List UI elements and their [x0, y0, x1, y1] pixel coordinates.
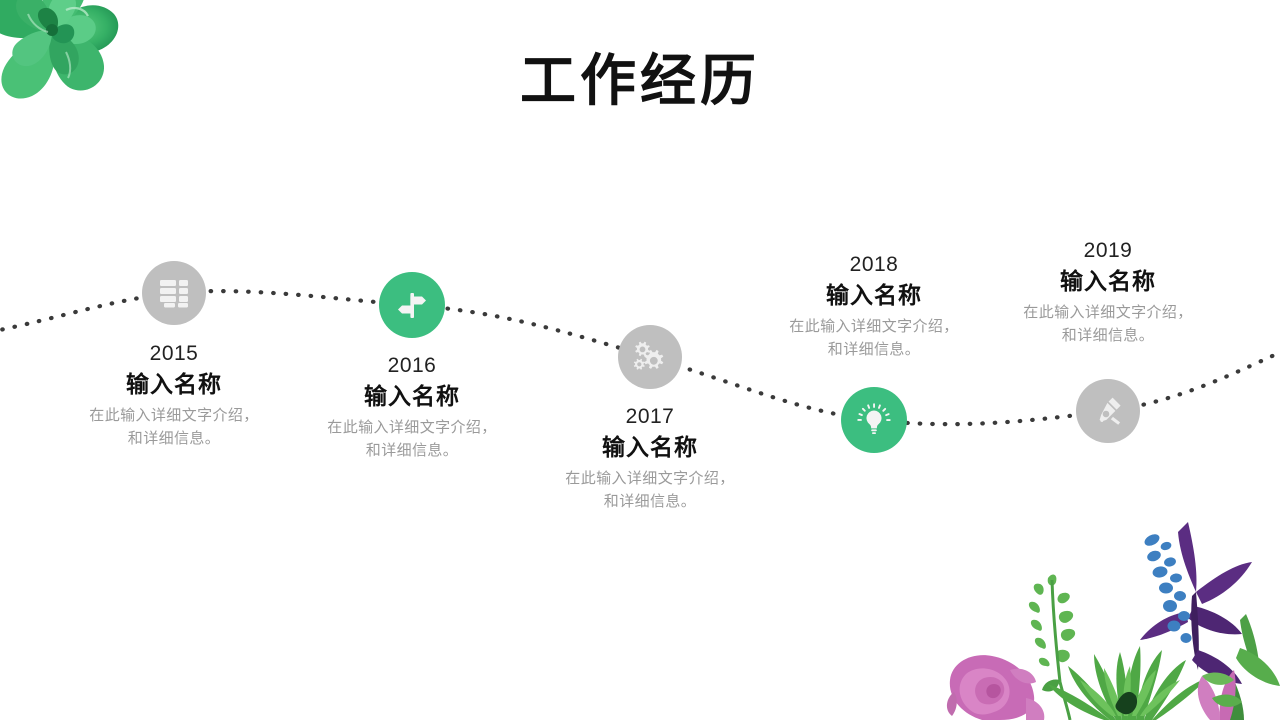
- timeline-node-text-2018: 2018 输入名称 在此输入详细文字介绍， 和详细信息。: [754, 252, 994, 362]
- timeline-node-circle-2016[interactable]: [379, 272, 445, 338]
- timeline-desc-2016-line2: 和详细信息。: [292, 439, 532, 462]
- timeline-desc-2015-line1: 在此输入详细文字介绍，: [54, 404, 294, 427]
- gears-icon: [632, 339, 668, 375]
- timeline-desc-2016-line1: 在此输入详细文字介绍，: [292, 416, 532, 439]
- timeline-name-2015: 输入名称: [54, 370, 294, 400]
- timeline-year-2015: 2015: [54, 341, 294, 367]
- timeline-node-text-2016: 2016 输入名称 在此输入详细文字介绍， 和详细信息。: [292, 353, 532, 463]
- timeline-name-2016: 输入名称: [292, 382, 532, 412]
- lightbulb-icon: [856, 402, 892, 438]
- timeline-desc-2017-line2: 和详细信息。: [530, 490, 770, 513]
- timeline-node-circle-2019[interactable]: [1076, 379, 1140, 443]
- timeline-desc-2015-line2: 和详细信息。: [54, 427, 294, 450]
- timeline-node-circle-2018[interactable]: [841, 387, 907, 453]
- timeline-name-2017: 输入名称: [530, 433, 770, 463]
- timeline-node-text-2019: 2019 输入名称 在此输入详细文字介绍， 和详细信息。: [988, 238, 1228, 348]
- timeline-node-text-2017: 2017 输入名称 在此输入详细文字介绍， 和详细信息。: [530, 404, 770, 514]
- server-icon: [157, 276, 191, 310]
- timeline-node-circle-2017[interactable]: [618, 325, 682, 389]
- signpost-icon: [394, 287, 430, 323]
- timeline-desc-2017-line1: 在此输入详细文字介绍，: [530, 467, 770, 490]
- slide-canvas: 工作经历 2015 输入名称 在此输入详细文字介绍， 和详细信息。: [0, 0, 1280, 720]
- timeline-year-2016: 2016: [292, 353, 532, 379]
- timeline-desc-2018-line1: 在此输入详细文字介绍，: [754, 315, 994, 338]
- pen-nib-icon: [1090, 393, 1126, 429]
- timeline-node-circle-2015[interactable]: [142, 261, 206, 325]
- timeline-node-text-2015: 2015 输入名称 在此输入详细文字介绍， 和详细信息。: [54, 341, 294, 451]
- timeline-year-2018: 2018: [754, 252, 994, 278]
- timeline-desc-2019-line1: 在此输入详细文字介绍，: [988, 301, 1228, 324]
- timeline-desc-2018-line2: 和详细信息。: [754, 338, 994, 361]
- timeline-name-2018: 输入名称: [754, 281, 994, 311]
- timeline-name-2019: 输入名称: [988, 267, 1228, 297]
- timeline-year-2019: 2019: [988, 238, 1228, 264]
- timeline-desc-2019-line2: 和详细信息。: [988, 324, 1228, 347]
- timeline-year-2017: 2017: [530, 404, 770, 430]
